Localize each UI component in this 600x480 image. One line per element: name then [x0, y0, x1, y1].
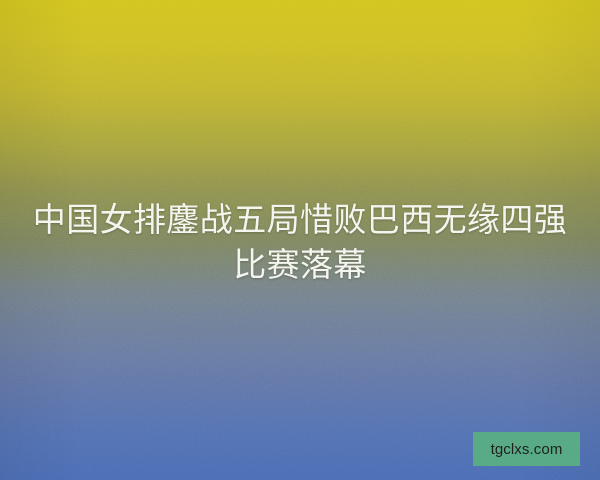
- watermark-badge: tgclxs.com: [473, 432, 580, 466]
- page-title: 中国女排鏖战五局惜败巴西无缘四强比赛落幕: [0, 197, 600, 287]
- watermark-label: tgclxs.com: [491, 442, 563, 457]
- banner-image: 中国女排鏖战五局惜败巴西无缘四强比赛落幕 tgclxs.com: [0, 0, 600, 480]
